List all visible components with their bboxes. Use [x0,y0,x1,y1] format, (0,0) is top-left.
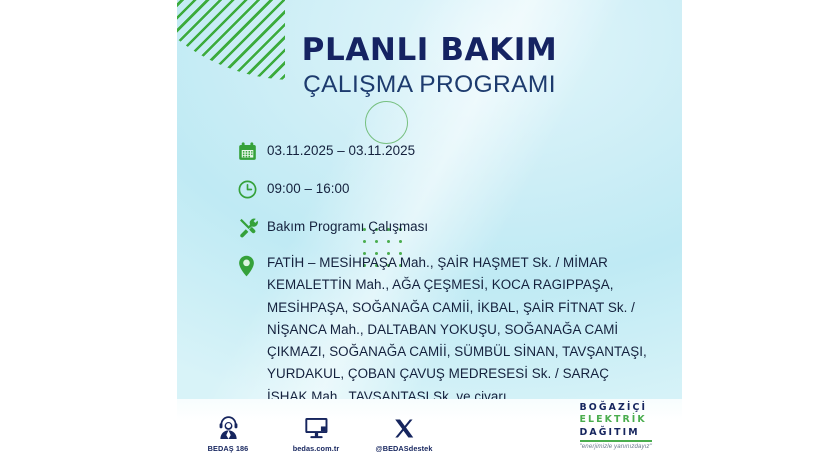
map-pin-icon [237,252,267,277]
date-range-text: 03.11.2025 – 03.11.2025 [267,138,415,161]
contact-channels: BEDAŞ 186 bedas.com.tr [195,412,437,453]
brand-line-3: DAĞITIM [580,427,652,439]
x-twitter-icon [371,412,437,440]
maintenance-details: 03.11.2025 – 03.11.2025 09:00 – 16:00 [237,138,649,408]
tools-icon [237,214,267,240]
page-subtitle: ÇALIŞMA PROGRAMI [177,72,682,98]
calendar-icon [237,138,267,164]
address-text: FATİH – MESİHPAŞA Mah., ŞAİR HAŞMET Sk. … [267,252,649,408]
detail-row-worktype: Bakım Programı Çalışması [237,214,649,240]
brand-line-1: BOĞAZİÇİ [580,402,652,414]
contact-phone-label: BEDAŞ 186 [195,444,261,453]
planned-maintenance-poster: PLANLI BAKIM ÇALIŞMA PROGRAMI [177,0,682,461]
page-title: PLANLI BAKIM [177,34,682,66]
support-agent-icon [195,412,261,440]
footer-band: BEDAŞ 186 bedas.com.tr [177,399,682,461]
brand-tagline: "enerjimizle yanınızdayız" [580,443,652,450]
monitor-icon [283,412,349,440]
contact-phone[interactable]: BEDAŞ 186 [195,412,261,453]
bedas-logo: BOĞAZİÇİ ELEKTRİK DAĞITIM "enerjimizle y… [580,402,652,450]
brand-line-2: ELEKTRİK [580,414,652,426]
detail-row-date: 03.11.2025 – 03.11.2025 [237,138,649,164]
contact-website-label: bedas.com.tr [283,444,349,453]
contact-x-label: @BEDASdestek [371,444,437,453]
brand-divider [580,440,652,441]
contact-x[interactable]: @BEDASdestek [371,412,437,453]
clock-icon [237,176,267,202]
work-type-text: Bakım Programı Çalışması [267,214,428,237]
detail-row-time: 09:00 – 16:00 [237,176,649,202]
time-range-text: 09:00 – 16:00 [267,176,350,199]
screenshot-stage: PLANLI BAKIM ÇALIŞMA PROGRAMI [0,0,820,461]
detail-row-address: FATİH – MESİHPAŞA Mah., ŞAİR HAŞMET Sk. … [237,252,649,408]
poster-heading: PLANLI BAKIM ÇALIŞMA PROGRAMI [177,34,682,98]
contact-website[interactable]: bedas.com.tr [283,412,349,453]
